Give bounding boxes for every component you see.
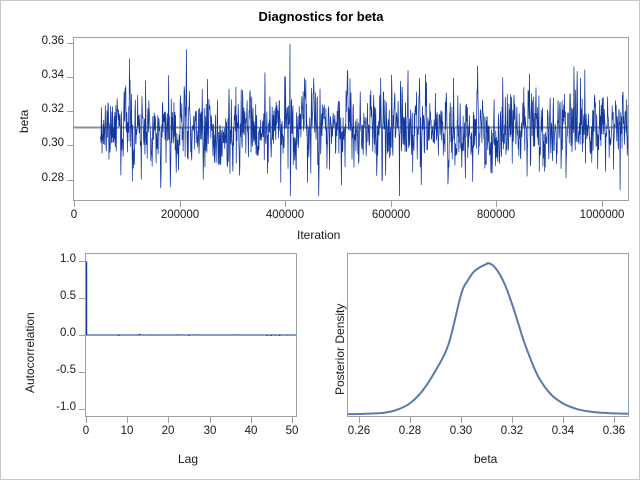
acf-y-tick: [79, 298, 85, 299]
trace-x-tick-label: 600000: [351, 209, 431, 221]
trace-plot-panel: [73, 37, 629, 201]
trace-y-tick-label: 0.30: [4, 137, 64, 149]
trace-x-tick-label: 0: [34, 209, 114, 221]
acf-y-axis-label: Autocorrelation: [23, 312, 37, 393]
trace-plot-canvas: [74, 38, 628, 200]
trace-x-tick-label: 1000000: [562, 209, 640, 221]
trace-x-tick: [285, 201, 286, 207]
acf-x-tick: [210, 417, 211, 423]
density-x-tick-label: 0.36: [574, 425, 640, 437]
acf-y-tick: [79, 372, 85, 373]
trace-x-tick: [180, 201, 181, 207]
acf-x-tick: [251, 417, 252, 423]
autocorrelation-plot-canvas: [86, 254, 296, 416]
trace-x-tick-label: 200000: [140, 209, 220, 221]
acf-x-tick: [86, 417, 87, 423]
trace-x-axis-label: Iteration: [297, 228, 340, 242]
trace-x-tick-label: 400000: [245, 209, 325, 221]
trace-y-tick: [67, 111, 73, 112]
acf-x-axis-label: Lag: [178, 452, 198, 466]
trace-x-tick-label: 800000: [456, 209, 536, 221]
trace-x-tick: [602, 201, 603, 207]
density-y-axis-label: Posterior Density: [333, 304, 347, 395]
density-x-tick: [512, 417, 513, 423]
acf-y-tick: [79, 409, 85, 410]
density-x-tick: [461, 417, 462, 423]
trace-y-tick: [67, 180, 73, 181]
acf-y-tick-label: -0.5: [16, 364, 76, 376]
density-x-tick: [359, 417, 360, 423]
figure-title: Diagnostics for beta: [1, 9, 640, 24]
diagnostics-figure: Diagnostics for beta beta Iteration 0.28…: [0, 0, 640, 480]
density-x-tick: [614, 417, 615, 423]
autocorrelation-plot-panel: [85, 253, 297, 417]
trace-y-tick-label: 0.36: [4, 35, 64, 47]
density-x-axis-label: beta: [474, 452, 497, 466]
trace-y-tick: [67, 77, 73, 78]
trace-x-tick: [74, 201, 75, 207]
trace-x-tick: [391, 201, 392, 207]
acf-y-tick-label: -1.0: [16, 401, 76, 413]
acf-x-tick: [127, 417, 128, 423]
acf-y-tick-label: 0.0: [16, 327, 76, 339]
trace-x-tick: [496, 201, 497, 207]
density-x-tick: [410, 417, 411, 423]
trace-y-tick: [67, 145, 73, 146]
posterior-density-plot-canvas: [348, 254, 628, 416]
acf-y-tick-label: 0.5: [16, 290, 76, 302]
posterior-density-plot-panel: [347, 253, 629, 417]
acf-x-tick: [292, 417, 293, 423]
acf-x-tick: [168, 417, 169, 423]
density-x-tick: [563, 417, 564, 423]
trace-y-tick-label: 0.34: [4, 69, 64, 81]
acf-y-tick: [79, 335, 85, 336]
trace-y-tick-label: 0.28: [4, 172, 64, 184]
trace-y-tick-label: 0.32: [4, 103, 64, 115]
acf-y-tick-label: 1.0: [16, 253, 76, 265]
trace-y-tick: [67, 43, 73, 44]
acf-y-tick: [79, 261, 85, 262]
